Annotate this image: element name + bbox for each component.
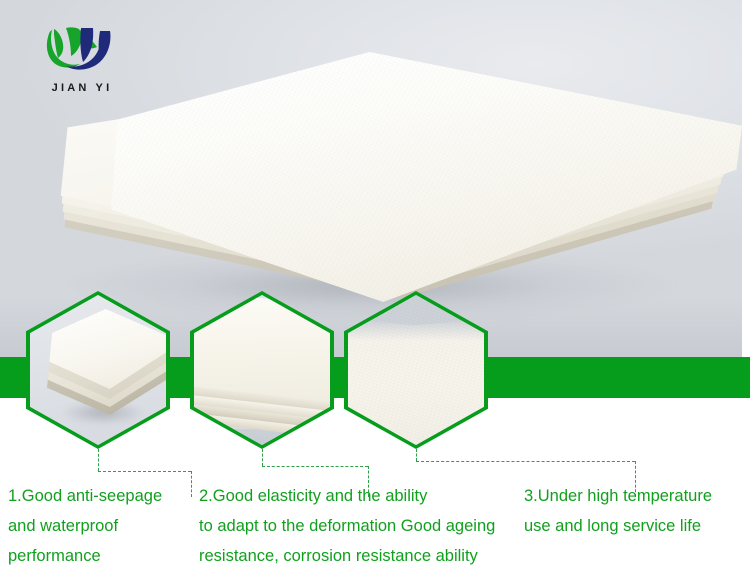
felt-sheet-stack: [52, 52, 742, 322]
feature-text-1: 1.Good anti-seepage and waterproof perfo…: [8, 481, 198, 571]
sheet-top-edge: [348, 319, 484, 341]
feature-text-group: 1.Good anti-seepage and waterproof perfo…: [0, 481, 750, 581]
sheet-top-face: [52, 52, 742, 302]
photo-ground: [194, 429, 330, 445]
feature-text-2: 2.Good elasticity and the ability to ada…: [199, 481, 529, 571]
brand-name: JIAN YI: [36, 82, 128, 94]
product-feature-banner: JIAN YI: [0, 0, 750, 581]
feature-text-3: 3.Under high temperature use and long se…: [524, 481, 750, 541]
brand-logo: JIAN YI: [36, 24, 128, 100]
jianyi-leaf-swoosh-icon: [36, 24, 128, 84]
